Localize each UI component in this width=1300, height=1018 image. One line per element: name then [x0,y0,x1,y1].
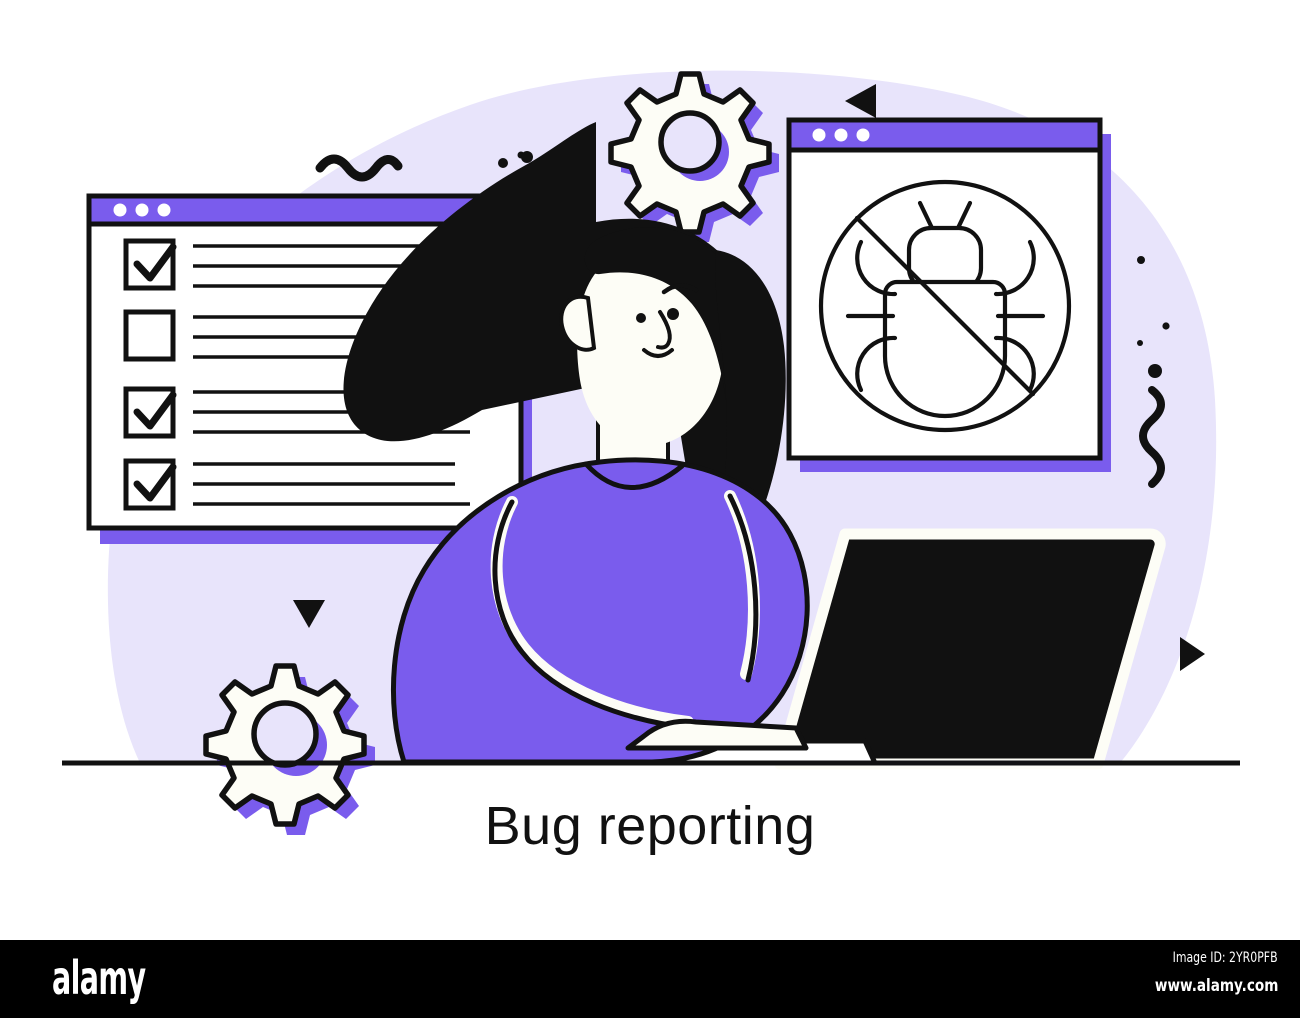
window-dot-3[interactable] [158,204,171,217]
dot [1148,364,1162,378]
triangle-right-icon [1180,637,1205,671]
window-dot-1[interactable] [114,204,127,217]
page-title: Bug reporting [0,795,1300,857]
window-dot-2[interactable] [136,204,149,217]
alamy-website-label: www.alamy.com [1154,976,1278,996]
eye-left [636,313,646,323]
image-id-label: Image ID: 2YR0PFB [1173,950,1278,966]
alamy-footer-bar: alamy Image ID: 2YR0PFB www.alamy.com [0,940,1300,1018]
alamy-logo: alamy [52,952,145,1004]
eye-right [667,308,679,320]
window-dot-3[interactable] [857,129,870,142]
checkbox-unchecked[interactable] [126,312,173,359]
window-dot-1[interactable] [813,129,826,142]
screenshot-root: Bug reporting alamy Image ID: 2YR0PFB ww… [0,0,1300,1018]
no-bug-window[interactable] [789,120,1111,472]
window-dot-2[interactable] [835,129,848,142]
